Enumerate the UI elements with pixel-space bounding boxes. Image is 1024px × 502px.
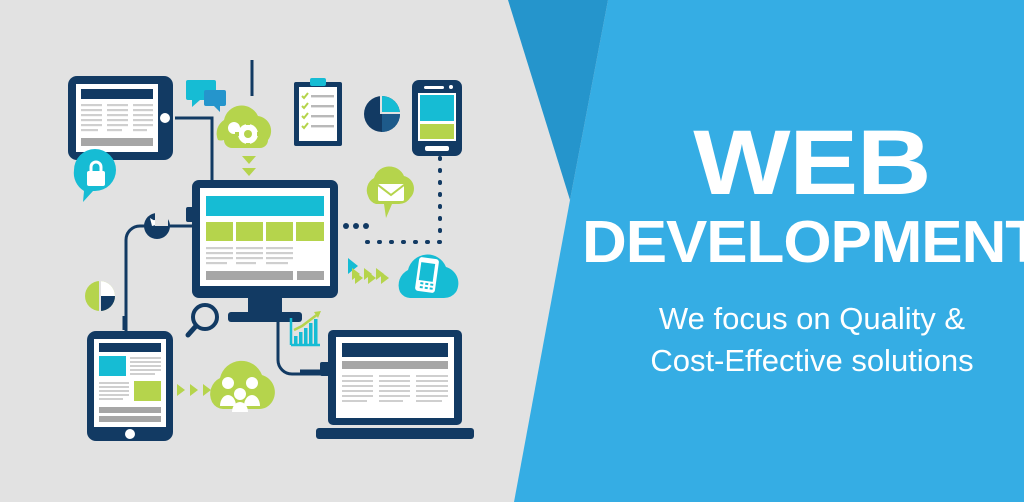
cloud-people-icon[interactable] — [210, 361, 275, 412]
envelope-cloud-icon[interactable] — [367, 166, 414, 218]
devices-illustration — [0, 0, 560, 502]
pie-small-slice-navy — [100, 296, 115, 311]
monitor-side-port — [186, 207, 196, 222]
tablet-portrait-arrows — [177, 384, 211, 396]
chat-bubble-front — [204, 90, 226, 112]
phone-speaker — [424, 86, 444, 89]
cloud-gears-icon[interactable] — [217, 106, 271, 176]
pie-slice-cyan — [382, 96, 400, 114]
phone-screen-cyan-block — [420, 95, 454, 121]
monitor-neck — [248, 298, 282, 314]
pie-chart-small-icon[interactable] — [85, 280, 115, 312]
tablet-portrait-green-block — [134, 381, 161, 401]
tablet-portrait-home-button — [125, 429, 135, 439]
cloud-people-shape — [210, 361, 275, 409]
phone-home-bar — [425, 146, 449, 151]
clipboard-checklist-icon[interactable] — [294, 78, 342, 146]
laptop-page-bar — [342, 361, 448, 369]
laptop-side-port — [320, 362, 330, 376]
cloud-arrow-2 — [242, 168, 256, 176]
page-footer-bar-right — [297, 271, 324, 280]
gear-large-center — [244, 130, 252, 138]
laptop-bottom-right[interactable] — [316, 330, 474, 439]
tablet-landscape-footer-bar — [81, 138, 153, 146]
cloud-mobile-phone-screen — [419, 262, 435, 282]
chat-bubbles-icon[interactable] — [186, 80, 226, 112]
cloud-arrow-1 — [242, 156, 256, 164]
tablet-portrait-cyan-block — [99, 356, 126, 376]
pie-gap-v — [380, 94, 382, 114]
clipboard-clip — [310, 78, 326, 86]
laptop-base — [316, 428, 474, 439]
lock-body — [87, 171, 105, 186]
smartphone-top-right[interactable] — [412, 80, 462, 156]
tablet-portrait-bar-1 — [99, 407, 161, 413]
page-header-bar — [206, 196, 324, 216]
cursor-notch — [155, 213, 168, 226]
monitor-desktop-center[interactable] — [186, 180, 384, 322]
cloud-mobile-icon[interactable] — [355, 255, 458, 298]
pie-chart-icon[interactable] — [364, 94, 402, 132]
pie-slice-mid — [382, 114, 400, 132]
tablet-landscape-top-left[interactable] — [68, 76, 173, 160]
magnifier-icon[interactable] — [188, 305, 217, 335]
tablet-landscape-home-button — [160, 113, 170, 123]
monitor-right-dots — [343, 223, 369, 229]
cursor-pointer-icon[interactable] — [144, 213, 170, 239]
tablet-landscape-header — [81, 89, 153, 99]
phone-screen-green-block — [420, 124, 454, 139]
phone-camera — [449, 85, 453, 89]
lock-bubble-icon[interactable] — [74, 149, 116, 202]
pie-small-slice-white — [100, 281, 115, 296]
tablet-portrait-bottom-left[interactable] — [87, 331, 211, 441]
page-footer-bar-left — [206, 271, 293, 280]
magnifier-handle — [188, 326, 196, 335]
tablet-portrait-bar-2 — [99, 416, 161, 422]
laptop-page-header — [342, 343, 448, 357]
pie-small-gap-v — [99, 280, 101, 312]
envelope-body — [378, 184, 404, 201]
tablet-portrait-header — [99, 343, 161, 352]
cloud-mobile-arrows — [355, 272, 389, 284]
pie-gap-h — [380, 112, 402, 114]
web-development-banner: WEB DEVELOPMENT We focus on Quality & Co… — [0, 0, 1024, 502]
